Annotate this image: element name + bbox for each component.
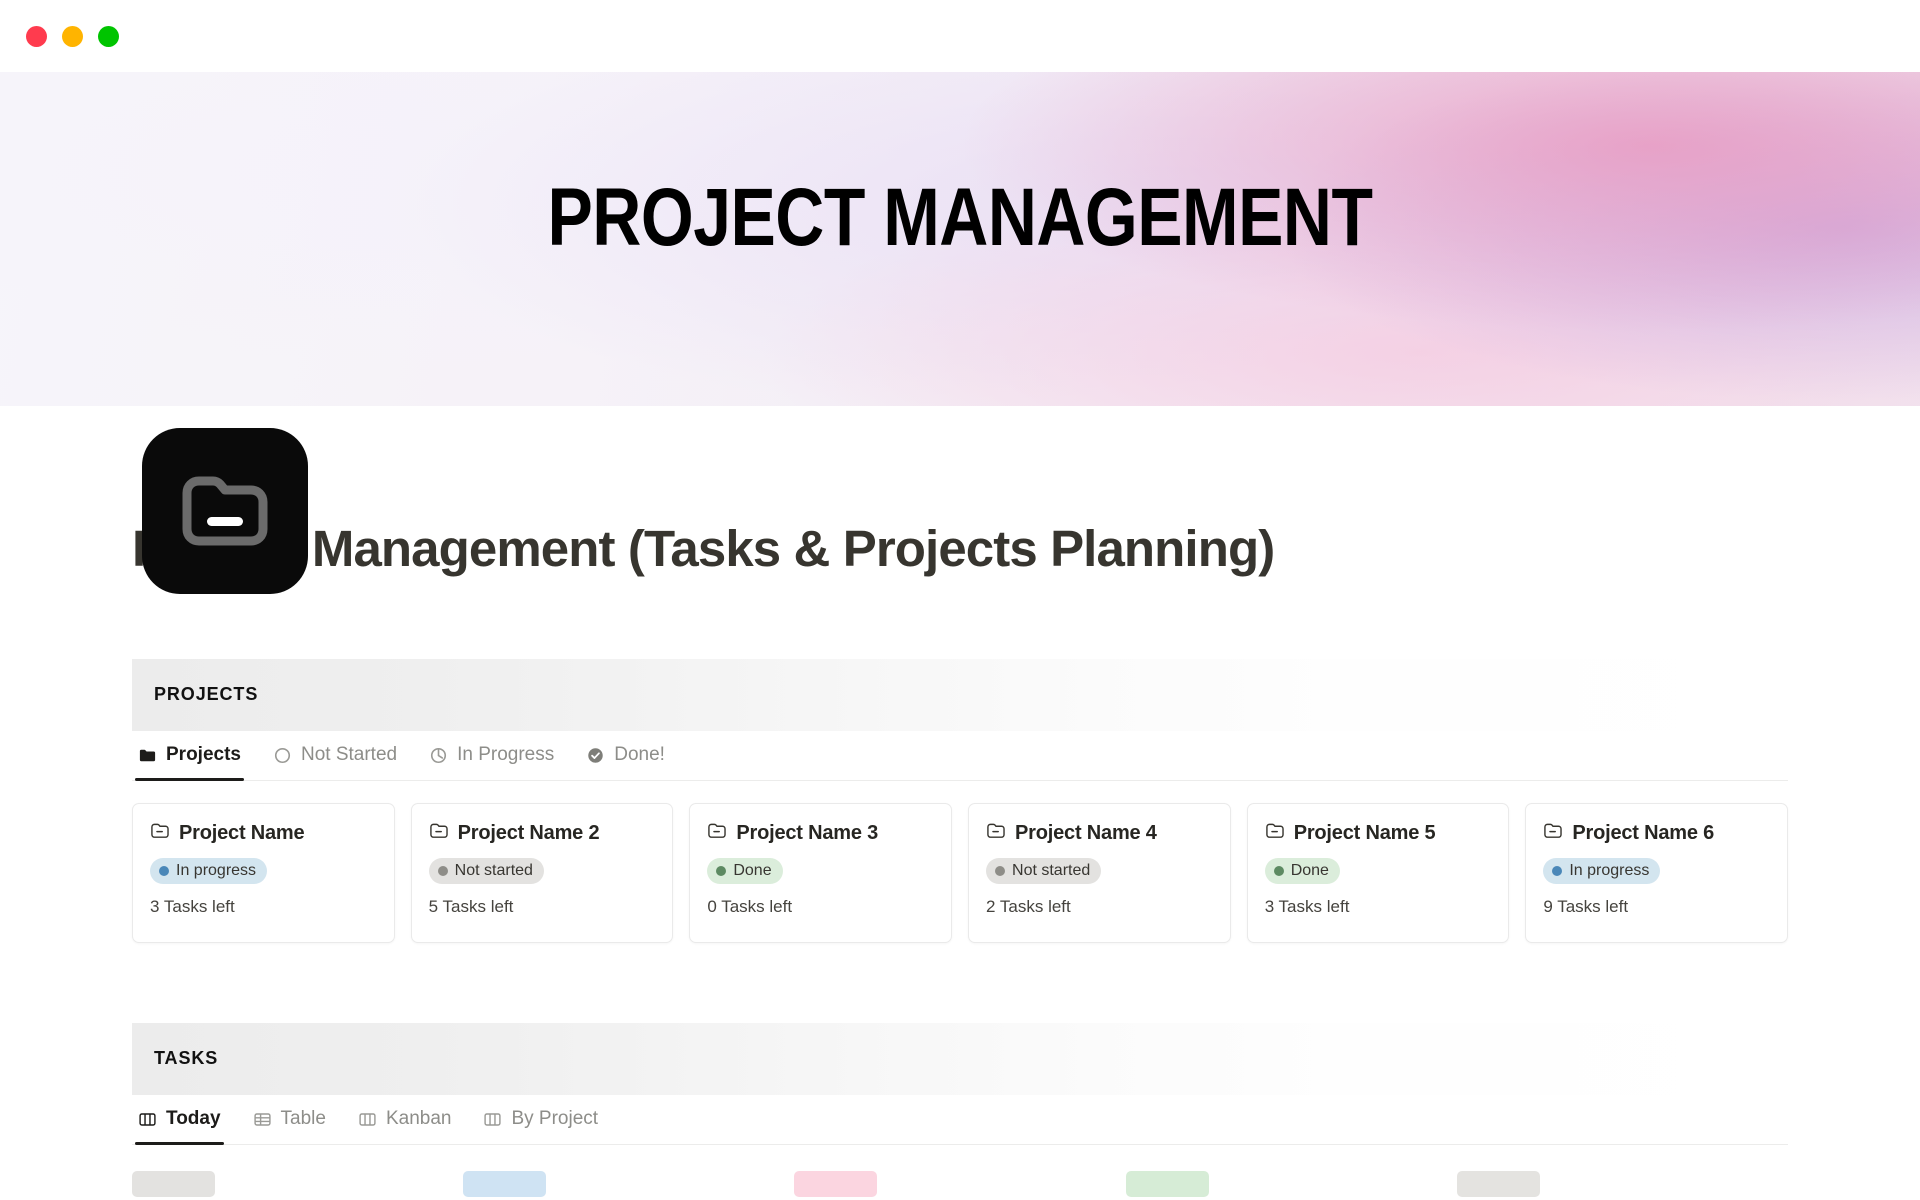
tab-today-label: Today (166, 1108, 221, 1130)
tab-in-progress[interactable]: In Progress (426, 731, 557, 780)
folder-minus-icon (429, 822, 448, 845)
tab-kanban-label: Kanban (386, 1108, 452, 1130)
window-titlebar (0, 0, 1920, 72)
tab-by-project[interactable]: By Project (480, 1095, 601, 1144)
tab-today[interactable]: Today (135, 1095, 224, 1144)
tab-by-project-label: By Project (511, 1108, 598, 1130)
column-pill-gray[interactable] (132, 1171, 215, 1197)
window-minimize-button[interactable] (62, 26, 83, 47)
project-tasks-left: 5 Tasks left (429, 897, 656, 917)
board-column (794, 1171, 1125, 1200)
check-circle-icon (586, 746, 605, 765)
column-pill-green[interactable] (1126, 1171, 1209, 1197)
status-badge-label: Done (733, 862, 771, 880)
status-badge-label: Done (1291, 862, 1329, 880)
folder-minus-icon (150, 822, 169, 845)
project-card-title: Project Name (179, 822, 304, 845)
status-badge: In progress (150, 858, 267, 884)
project-card[interactable]: Project Name 5 Done 3 Tasks left (1247, 803, 1510, 943)
tab-not-started-label: Not Started (301, 744, 397, 766)
status-badge-label: Not started (1012, 862, 1090, 880)
column-pill-gray2[interactable] (1457, 1171, 1540, 1197)
status-dot-icon (716, 866, 726, 876)
status-dot-icon (438, 866, 448, 876)
tasks-section-band: TASKS (132, 1023, 1788, 1095)
status-badge: Done (1265, 858, 1340, 884)
tab-table-label: Table (281, 1108, 326, 1130)
table-icon (253, 1110, 272, 1129)
project-card-title: Project Name 5 (1294, 822, 1436, 845)
status-badge-label: In progress (1569, 862, 1649, 880)
folder-minus-icon (1265, 822, 1284, 845)
project-card[interactable]: Project Name 2 Not started 5 Tasks left (411, 803, 674, 943)
projects-tab-strip: Projects Not Started In Progress (132, 731, 1788, 781)
project-card-title: Project Name 4 (1015, 822, 1157, 845)
project-tasks-left: 9 Tasks left (1543, 897, 1770, 917)
page-title: Project Management (Tasks & Projects Pla… (132, 520, 1788, 579)
status-dot-icon (159, 866, 169, 876)
folder-minus-icon (707, 822, 726, 845)
page-cover-banner: PROJECT MANAGEMENT (0, 72, 1920, 406)
tab-projects[interactable]: Projects (135, 731, 244, 780)
folder-filled-icon (138, 746, 157, 765)
status-badge-label: Not started (455, 862, 533, 880)
window-maximize-button[interactable] (98, 26, 119, 47)
window-close-button[interactable] (26, 26, 47, 47)
tab-done[interactable]: Done! (583, 731, 668, 780)
page-icon[interactable] (142, 428, 308, 594)
project-tasks-left: 3 Tasks left (1265, 897, 1492, 917)
status-dot-icon (995, 866, 1005, 876)
tab-done-label: Done! (614, 744, 665, 766)
tasks-tab-strip: Today Table Kanban (132, 1095, 1788, 1145)
board-icon (138, 1110, 157, 1129)
tab-not-started[interactable]: Not Started (270, 731, 400, 780)
status-badge: In progress (1543, 858, 1660, 884)
project-tasks-left: 0 Tasks left (707, 897, 934, 917)
tasks-board-columns (132, 1171, 1788, 1200)
project-card[interactable]: Project Name 4 Not started 2 Tasks left (968, 803, 1231, 943)
project-card-header: Project Name 3 (707, 822, 934, 845)
folder-minus-icon (179, 469, 271, 553)
project-card-title: Project Name 3 (736, 822, 878, 845)
board-icon (483, 1110, 502, 1129)
status-badge: Not started (986, 858, 1101, 884)
circle-empty-icon (273, 746, 292, 765)
project-card-title: Project Name 6 (1572, 822, 1714, 845)
board-column (1126, 1171, 1457, 1200)
page-content: Project Management (Tasks & Projects Pla… (0, 520, 1920, 1200)
project-card[interactable]: Project Name 3 Done 0 Tasks left (689, 803, 952, 943)
tasks-section-title: TASKS (154, 1048, 218, 1069)
folder-minus-icon (986, 822, 1005, 845)
board-column (1457, 1171, 1788, 1200)
projects-section-band: PROJECTS (132, 659, 1788, 731)
projects-section-title: PROJECTS (154, 684, 258, 705)
folder-minus-icon (1543, 822, 1562, 845)
tab-kanban[interactable]: Kanban (355, 1095, 455, 1144)
status-dot-icon (1274, 866, 1284, 876)
project-card-header: Project Name (150, 822, 377, 845)
project-tasks-left: 3 Tasks left (150, 897, 377, 917)
status-badge-label: In progress (176, 862, 256, 880)
status-badge: Not started (429, 858, 544, 884)
page-body: Project Management (Tasks & Projects Pla… (0, 520, 1920, 1200)
board-column (463, 1171, 794, 1200)
status-dot-icon (1552, 866, 1562, 876)
project-tasks-left: 2 Tasks left (986, 897, 1213, 917)
project-card[interactable]: Project Name 6 In progress 9 Tasks left (1525, 803, 1788, 943)
status-badge: Done (707, 858, 782, 884)
board-column (132, 1171, 463, 1200)
column-pill-pink[interactable] (794, 1171, 877, 1197)
project-card-header: Project Name 5 (1265, 822, 1492, 845)
project-card[interactable]: Project Name In progress 3 Tasks left (132, 803, 395, 943)
column-pill-blue[interactable] (463, 1171, 546, 1197)
project-card-header: Project Name 2 (429, 822, 656, 845)
board-icon (358, 1110, 377, 1129)
tab-projects-label: Projects (166, 744, 241, 766)
project-card-title: Project Name 2 (458, 822, 600, 845)
project-card-header: Project Name 6 (1543, 822, 1770, 845)
circle-progress-icon (429, 746, 448, 765)
tab-in-progress-label: In Progress (457, 744, 554, 766)
tab-table[interactable]: Table (250, 1095, 329, 1144)
projects-card-row: Project Name In progress 3 Tasks left (132, 803, 1788, 943)
banner-title: PROJECT MANAGEMENT (29, 176, 1891, 258)
project-card-header: Project Name 4 (986, 822, 1213, 845)
